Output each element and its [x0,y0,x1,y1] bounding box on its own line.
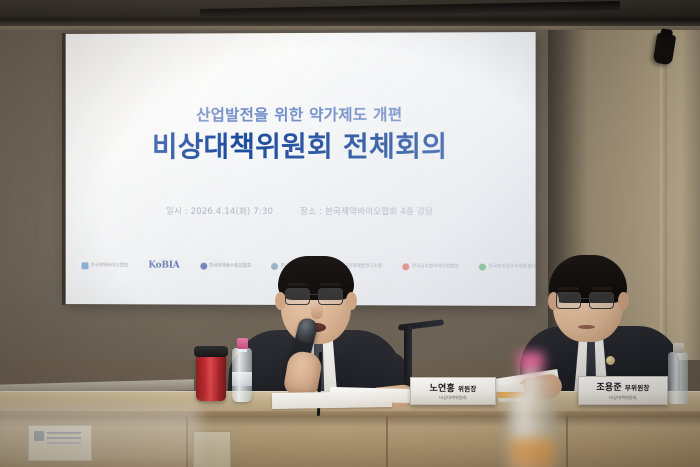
bottle-cap [518,352,544,370]
bottle-cap [237,338,248,349]
table-panel-seam [386,417,388,467]
logo-mark-icon [479,263,486,270]
eyebrow-right [320,283,341,286]
slide-meta: 일시 : 2026.4.14(화) 7:30 장소 : 한국제약바이오협회 4층… [66,205,536,218]
logo-label: 한국의약품수출입협회 [209,263,251,269]
logo-label: KoBIA [148,261,179,271]
nameplate-affiliation: 비상대책위원회 [609,395,637,401]
nameplate-affiliation: 비상대책위원회 [439,395,467,401]
column-edge [660,30,667,360]
logo-label: 한국글로벌의약산업협회 [412,263,459,269]
logo-mark-icon [82,262,89,269]
eyebrow-right [592,287,613,290]
tumbler-lid [194,346,228,357]
nameplate-name-line: 조용준부위원장 [596,380,649,393]
glasses-bridge [308,294,318,295]
slide-place: 장소 : 한국제약바이오협회 4층 강당 [300,207,433,217]
nameplate-right: 조용준부위원장 비상대책위원회 [578,376,668,405]
nameplate-role: 위원장 [458,385,477,393]
mouth [578,325,595,329]
nameplate-name: 조용준 [596,383,621,393]
logo-mark-icon [271,262,278,269]
red-tumbler [196,355,226,401]
nameplate-left: 노연홍위원장 비상대책위원회 [410,377,496,405]
table-panel-seam [566,417,568,467]
logo-mark-icon [200,262,207,269]
eyebrow-left [558,287,579,290]
screen-frame [62,33,65,305]
foreground-bottle [498,352,564,467]
eyebrow-left [287,283,308,286]
lens-left [285,288,310,305]
conference-photo: 산업발전을 위한 약가제도 개편 비상대책위원회 전체회의 일시 : 2026.… [0,0,700,467]
slide-title: 비상대책위원회 전체회의 [66,125,536,165]
bottle-cap [673,343,684,353]
logo-mark-icon [403,263,410,270]
logo-item: 한국글로벌의약산업협회 [403,263,459,270]
logo-label: 한국제약바이오협회 [90,262,128,268]
slide-subtitle: 산업발전을 위한 약가제도 개편 [66,103,536,126]
logo-item: KoBIA [148,261,179,271]
nameplate-name: 노연홍 [430,384,455,394]
lens-right [318,288,343,305]
eyeglasses-icon [556,292,620,310]
logo-item: 한국제약바이오협회 [82,262,128,269]
bottle-label [232,372,252,386]
logo-item: 한국희귀필수의약품센터 [479,263,535,270]
lens-left [556,292,581,309]
nameplate-role: 부위원장 [625,384,650,392]
lens-right [589,292,614,309]
bottle-liquid [510,438,554,467]
documents-on-table [330,387,416,403]
foreground-blur-table [0,406,200,467]
nose [311,303,323,319]
logo-label: 한국희귀필수의약품센터 [489,264,536,270]
logo-item: 한국의약품수출입협회 [200,262,251,269]
slide-date: 일시 : 2026.4.14(화) 7:30 [166,207,273,217]
lapel-pin-icon [606,356,615,365]
water-bottle-far [668,352,688,404]
water-bottle [232,348,252,402]
glasses-bridge [579,298,589,299]
nameplate-name-line: 노연홍위원장 [430,381,477,394]
